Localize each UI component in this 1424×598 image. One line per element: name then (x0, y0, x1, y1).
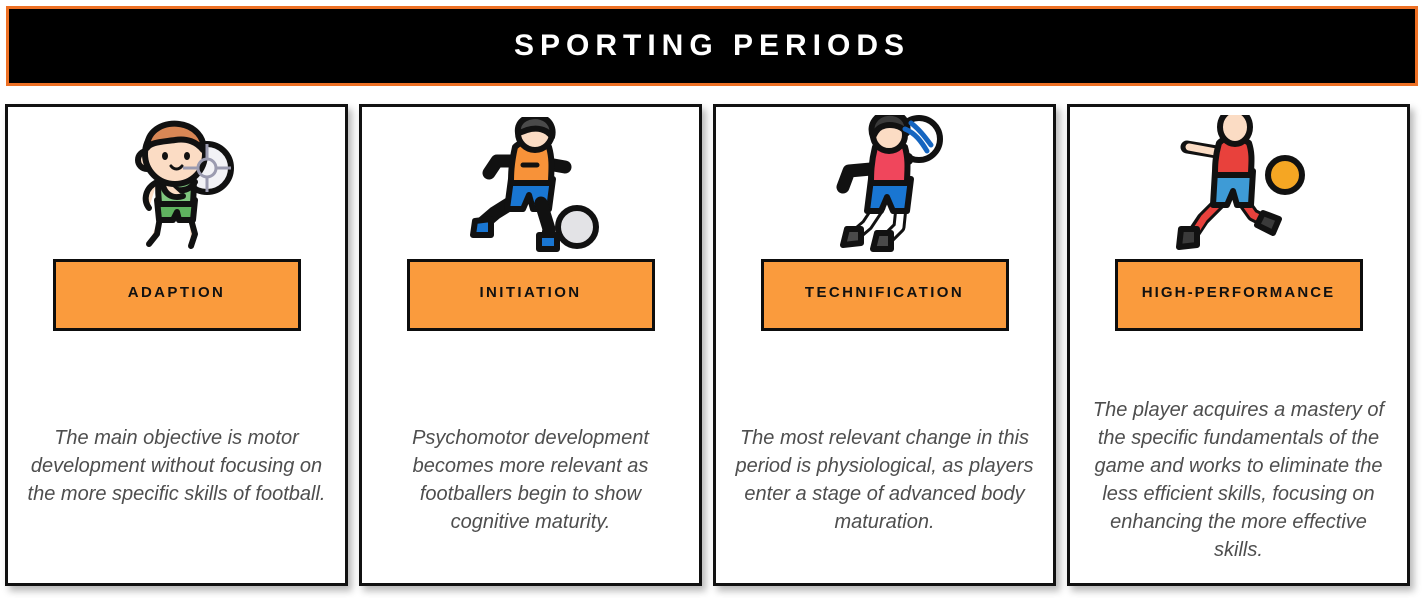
card-body: Psychomotor development becomes more rel… (362, 331, 699, 583)
period-card-adaption[interactable]: ADAPTION The main objective is motor dev… (5, 104, 348, 586)
badge-high-performance[interactable]: HIGH-PERFORMANCE (1115, 259, 1363, 331)
footballer-kicking-ball-icon (362, 107, 699, 259)
child-holding-football-icon (8, 107, 345, 259)
card-description: The main objective is motor development … (26, 424, 327, 508)
badge-label: TECHNIFICATION (805, 285, 964, 300)
card-description: The player acquires a mastery of the spe… (1088, 396, 1389, 564)
cards-row: ADAPTION The main objective is motor dev… (0, 104, 1424, 592)
badge-technification[interactable]: TECHNIFICATION (761, 259, 1009, 331)
page-title: SPORTING PERIODS (514, 31, 910, 61)
footballer-running-with-ball-icon (1070, 107, 1407, 259)
card-description: The most relevant change in this period … (734, 424, 1035, 536)
badge-label: HIGH-PERFORMANCE (1142, 285, 1336, 300)
badge-initiation[interactable]: INITIATION (407, 259, 655, 331)
footballer-heading-ball-icon (716, 107, 1053, 259)
badge-label: INITIATION (479, 285, 581, 300)
card-description: Psychomotor development becomes more rel… (380, 424, 681, 536)
period-card-high-performance[interactable]: HIGH-PERFORMANCE The player acquires a m… (1067, 104, 1410, 586)
period-card-initiation[interactable]: INITIATION Psychomotor development becom… (359, 104, 702, 586)
period-card-technification[interactable]: TECHNIFICATION The most relevant change … (713, 104, 1056, 586)
card-body: The most relevant change in this period … (716, 331, 1053, 583)
badge-adaption[interactable]: ADAPTION (53, 259, 301, 331)
card-body: The player acquires a mastery of the spe… (1070, 331, 1407, 583)
header-banner: SPORTING PERIODS (6, 6, 1418, 86)
slide-root: SPORTING PERIODS (0, 0, 1424, 598)
badge-label: ADAPTION (128, 285, 226, 300)
card-body: The main objective is motor development … (8, 331, 345, 583)
